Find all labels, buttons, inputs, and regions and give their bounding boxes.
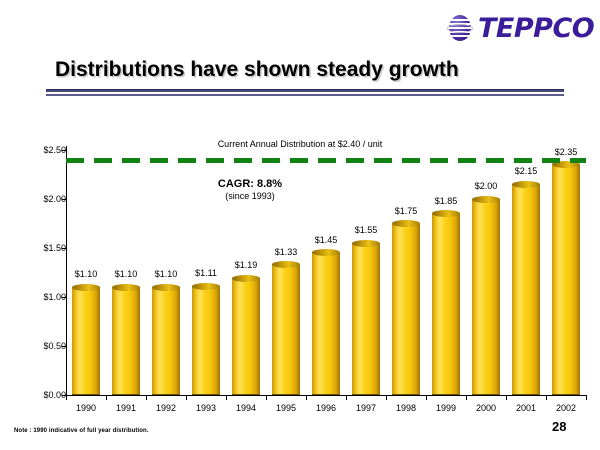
x-tick-mark	[146, 395, 147, 400]
bar-top-cap	[152, 284, 180, 291]
y-tick-mark	[62, 150, 66, 151]
x-tick-mark	[386, 395, 387, 400]
bar-body	[72, 287, 100, 395]
x-tick-label: 2000	[476, 403, 496, 413]
bar-value-label: $1.10	[104, 269, 148, 279]
bar: $2.00	[472, 110, 500, 395]
bar-top-cap	[352, 240, 380, 247]
x-tick-mark	[586, 395, 587, 400]
page-number: 28	[552, 419, 566, 434]
bar-top-cap	[72, 284, 100, 291]
distribution-bar-chart: $0.00$0.50$1.00$1.50$2.00$2.50 199019911…	[0, 110, 600, 410]
x-tick-label: 2002	[556, 403, 576, 413]
x-tick-label: 1990	[76, 403, 96, 413]
bar-value-label: $1.85	[424, 196, 468, 206]
reference-line-target	[66, 158, 586, 163]
x-tick-label: 1993	[196, 403, 216, 413]
x-tick-label: 1994	[236, 403, 256, 413]
x-tick-mark	[306, 395, 307, 400]
y-tick-mark	[62, 297, 66, 298]
title-divider	[46, 89, 564, 96]
x-tick-mark	[106, 395, 107, 400]
y-tick-mark	[62, 346, 66, 347]
bar-body	[152, 287, 180, 395]
bar: $2.35	[552, 110, 580, 395]
bar-top-cap	[192, 283, 220, 290]
bar-top-cap	[512, 181, 540, 188]
bar-value-label: $1.55	[344, 225, 388, 235]
x-tick-mark	[186, 395, 187, 400]
bar-body	[512, 184, 540, 395]
x-tick-mark	[66, 395, 67, 400]
bar: $1.85	[432, 110, 460, 395]
bar-value-label: $1.45	[304, 235, 348, 245]
brand-logo: TEPPCO	[447, 11, 587, 45]
bar: $1.75	[392, 110, 420, 395]
cagr-period: (since 1993)	[170, 191, 330, 201]
bar-body	[232, 278, 260, 395]
x-tick-label: 2001	[516, 403, 536, 413]
bar: $1.10	[152, 110, 180, 395]
bar: $1.55	[352, 110, 380, 395]
bar: $1.10	[112, 110, 140, 395]
bar-body	[272, 265, 300, 395]
bar-value-label: $1.33	[264, 247, 308, 257]
bar-body	[192, 286, 220, 395]
x-tick-mark	[506, 395, 507, 400]
bar-value-label: $2.15	[504, 166, 548, 176]
bar-body	[392, 224, 420, 396]
x-tick-label: 1999	[436, 403, 456, 413]
bar-body	[472, 199, 500, 395]
x-tick-label: 1996	[316, 403, 336, 413]
bar-value-label: $1.75	[384, 206, 428, 216]
x-tick-mark	[226, 395, 227, 400]
x-tick-mark	[466, 395, 467, 400]
y-tick-mark	[62, 248, 66, 249]
bar: $1.19	[232, 110, 260, 395]
bar-value-label: $1.10	[64, 269, 108, 279]
bar: $1.45	[312, 110, 340, 395]
x-axis	[66, 395, 586, 396]
x-tick-label: 1995	[276, 403, 296, 413]
bar-body	[112, 287, 140, 395]
x-tick-label: 1991	[116, 403, 136, 413]
bar: $1.33	[272, 110, 300, 395]
cagr-value: CAGR: 8.8%	[170, 178, 330, 190]
brand-wordmark: TEPPCO	[478, 15, 594, 42]
bar-value-label: $1.19	[224, 260, 268, 270]
y-tick-label: $1.00	[22, 292, 66, 302]
x-tick-mark	[346, 395, 347, 400]
y-tick-label: $1.50	[22, 243, 66, 253]
reference-line-label: Current Annual Distribution at $2.40 / u…	[0, 139, 600, 149]
bar: $1.11	[192, 110, 220, 395]
bar-body	[352, 243, 380, 395]
bar-top-cap	[392, 220, 420, 227]
bar-body	[432, 214, 460, 395]
y-tick-label: $2.00	[22, 194, 66, 204]
x-tick-label: 1997	[356, 403, 376, 413]
footnote: Note : 1990 indicative of full year dist…	[14, 428, 149, 434]
page-title: Distributions have shown steady growth	[55, 58, 459, 82]
x-tick-label: 1998	[396, 403, 416, 413]
x-tick-label: 1992	[156, 403, 176, 413]
bar-value-label: $2.00	[464, 181, 508, 191]
globe-icon	[447, 15, 473, 41]
x-tick-mark	[266, 395, 267, 400]
x-tick-mark	[426, 395, 427, 400]
bar-top-cap	[112, 284, 140, 291]
bar-value-label: $1.10	[144, 269, 188, 279]
bar: $1.10	[72, 110, 100, 395]
x-tick-mark	[546, 395, 547, 400]
bar: $2.15	[512, 110, 540, 395]
y-tick-label: $0.50	[22, 341, 66, 351]
bar-body	[552, 165, 580, 395]
bar-body	[312, 253, 340, 395]
bar-top-cap	[232, 275, 260, 282]
y-tick-mark	[62, 199, 66, 200]
bar-top-cap	[472, 196, 500, 203]
bar-value-label: $1.11	[184, 268, 228, 278]
cagr-annotation: CAGR: 8.8% (since 1993)	[170, 178, 330, 201]
y-tick-label: $0.00	[22, 390, 66, 400]
